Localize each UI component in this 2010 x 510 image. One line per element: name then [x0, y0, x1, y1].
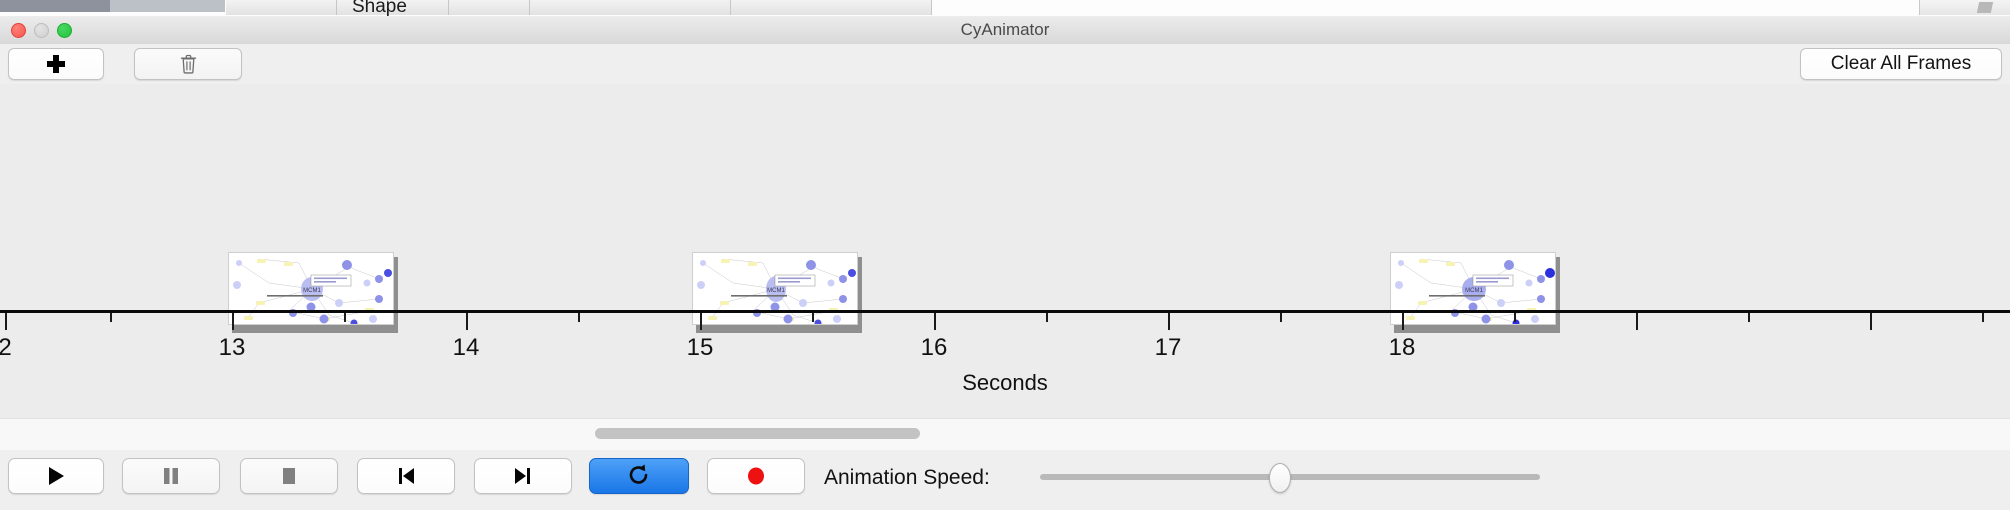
background-window-label: Shape	[352, 0, 407, 17]
play-button[interactable]	[8, 458, 104, 494]
title-bar: CyAnimator	[0, 16, 2010, 45]
background-window-chip	[530, 0, 731, 15]
ruler-label: 13	[219, 334, 246, 362]
ruler-tick-minor	[1748, 313, 1750, 322]
thumbnail-image: MCM1	[692, 252, 858, 325]
axis-title: Seconds	[0, 370, 2010, 396]
loop-icon	[628, 464, 650, 488]
trash-icon	[180, 54, 197, 74]
loop-button[interactable]	[589, 458, 689, 494]
plus-icon	[47, 55, 65, 73]
keyframe-thumbnail[interactable]: MCM1	[692, 252, 860, 328]
svg-text:MCM1: MCM1	[1465, 288, 1483, 294]
ruler-tick-major	[700, 313, 702, 330]
playback-control-bar: Animation Speed:	[0, 450, 2010, 510]
background-window-chip	[731, 0, 932, 15]
background-window-chip	[226, 0, 337, 15]
background-window-chip	[110, 0, 225, 12]
background-window-chip	[0, 0, 110, 12]
background-window-strip: Shape	[0, 0, 2010, 17]
ruler-label: 16	[921, 334, 948, 362]
keyframe-thumbnail[interactable]: MCM1	[1390, 252, 1558, 328]
skip-back-icon	[396, 465, 416, 487]
ruler-tick-minor	[578, 313, 580, 322]
pause-icon	[161, 465, 181, 487]
ruler-label: 2	[0, 334, 12, 362]
ruler-tick-major	[232, 313, 234, 330]
stop-icon	[279, 465, 299, 487]
thumbnail-image: MCM1	[1390, 252, 1556, 325]
ruler-tick-minor	[110, 313, 112, 322]
animation-speed-slider[interactable]	[1040, 467, 1540, 487]
ruler-tick-minor	[1280, 313, 1282, 322]
background-window-chip	[449, 0, 530, 15]
stop-button[interactable]	[240, 458, 338, 494]
ruler-tick-major	[1402, 313, 1404, 330]
ruler-tick-minor	[1046, 313, 1048, 322]
skip-forward-icon	[513, 465, 533, 487]
ruler-tick-minor	[1514, 313, 1516, 322]
background-window-resize-grip	[1977, 2, 1993, 13]
toolbar: Clear All Frames	[0, 44, 2010, 86]
ruler-label: 18	[1389, 334, 1416, 362]
ruler-tick-minor	[1982, 313, 1984, 322]
ruler-tick-major	[466, 313, 468, 330]
svg-text:MCM1: MCM1	[767, 288, 785, 294]
pause-button[interactable]	[122, 458, 220, 494]
ruler-tick-major	[1168, 313, 1170, 330]
add-frame-button[interactable]	[8, 48, 104, 80]
ruler-tick-major	[1870, 313, 1872, 330]
thumbnail-image: MCM1	[228, 252, 394, 325]
cyanimator-window: Shape CyAnimator Clear All Frames	[0, 0, 2010, 510]
timeline-ruler	[0, 310, 2010, 313]
ruler-tick-minor	[812, 313, 814, 322]
delete-frame-button[interactable]	[134, 48, 242, 80]
keyframe-thumbnail[interactable]: MCM1	[228, 252, 396, 328]
ruler-tick-major	[934, 313, 936, 330]
timeline-scrollbar[interactable]	[0, 418, 2010, 453]
ruler-tick-minor	[344, 313, 346, 322]
animation-speed-label: Animation Speed:	[824, 466, 990, 490]
svg-text:MCM1: MCM1	[303, 288, 321, 294]
ruler-label: 15	[687, 334, 714, 362]
clear-all-frames-button[interactable]: Clear All Frames	[1800, 48, 2002, 80]
ruler-label: 14	[453, 334, 480, 362]
skip-to-start-button[interactable]	[357, 458, 455, 494]
ruler-tick-major	[1636, 313, 1638, 330]
clear-all-frames-label: Clear All Frames	[1831, 53, 1971, 75]
play-icon	[46, 465, 66, 487]
ruler-tick-major	[5, 313, 7, 330]
ruler-label: 17	[1155, 334, 1182, 362]
timeline-panel[interactable]: MCM1	[0, 84, 2010, 418]
scrollbar-thumb[interactable]	[595, 428, 920, 439]
skip-to-end-button[interactable]	[474, 458, 572, 494]
record-icon	[745, 465, 767, 487]
record-button[interactable]	[707, 458, 805, 494]
background-window-right-chip	[1919, 0, 2010, 15]
window-title: CyAnimator	[0, 16, 2010, 44]
slider-thumb[interactable]	[1269, 463, 1291, 493]
